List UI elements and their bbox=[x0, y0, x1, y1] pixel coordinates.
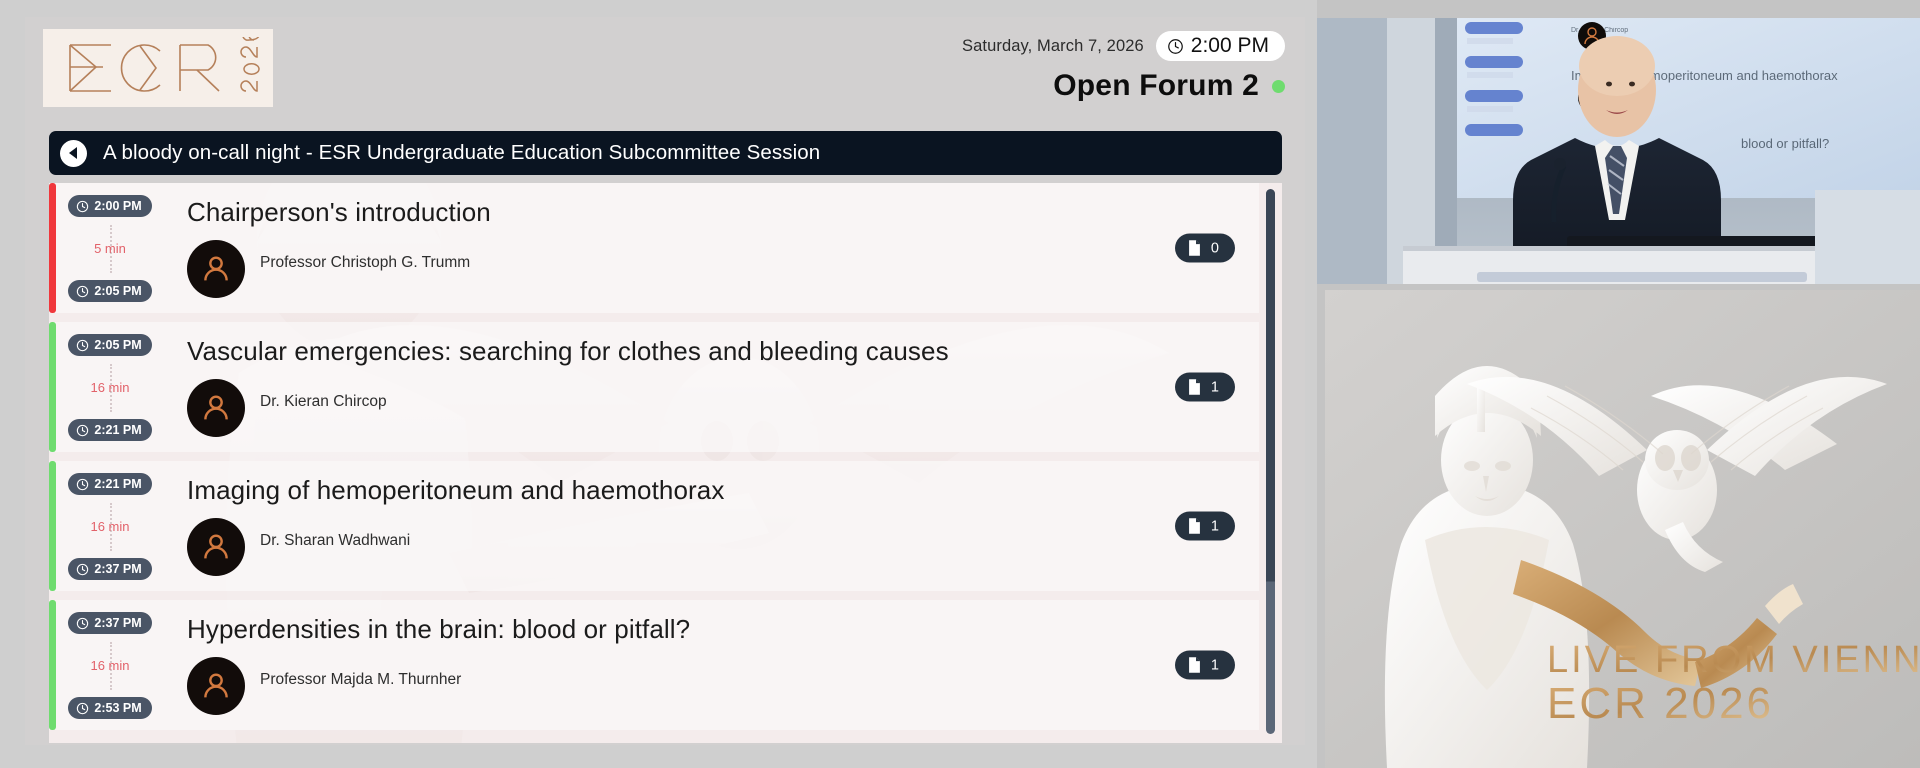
clock-icon bbox=[76, 424, 89, 437]
session-title-bar: A bloody on-call night - ESR Undergradua… bbox=[49, 131, 1282, 175]
talk-row[interactable]: 2:00 PM 5 min 2:05 PM bbox=[49, 183, 1259, 313]
current-time-label: 2:00 PM bbox=[1191, 34, 1269, 58]
talk-body: Hyperdensities in the brain: blood or pi… bbox=[164, 600, 1259, 730]
talk-list: 2:00 PM 5 min 2:05 PM bbox=[49, 183, 1282, 743]
talk-rows: 2:00 PM 5 min 2:05 PM bbox=[49, 183, 1259, 739]
session-title: A bloody on-call night - ESR Undergradua… bbox=[103, 141, 820, 165]
talk-end-time: 2:53 PM bbox=[68, 697, 151, 719]
talk-speaker-row: Dr. Kieran Chircop bbox=[187, 379, 1259, 437]
talk-duration: 16 min bbox=[84, 656, 135, 675]
talk-accent-bar bbox=[49, 183, 56, 313]
svg-text:blood or pitfall?: blood or pitfall? bbox=[1741, 136, 1829, 151]
live-speaker-video[interactable]: Dr. Kieran Chircop Imaging of hemoperito… bbox=[1317, 18, 1920, 284]
documents-count: 0 bbox=[1211, 240, 1219, 256]
talk-title: Imaging of hemoperitoneum and haemothora… bbox=[187, 475, 1259, 506]
talk-time-column: 2:05 PM 16 min 2:21 PM bbox=[56, 322, 164, 452]
talk-body: Chairperson's introduction Professor Chr… bbox=[164, 183, 1259, 313]
talk-speaker-name: Dr. Kieran Chircop bbox=[260, 393, 387, 411]
document-icon bbox=[1187, 518, 1202, 535]
current-time-pill: 2:00 PM bbox=[1156, 31, 1285, 61]
back-button[interactable] bbox=[60, 140, 87, 167]
documents-count: 1 bbox=[1211, 657, 1219, 673]
clock-icon bbox=[76, 702, 89, 715]
talk-speaker-row: Professor Christoph G. Trumm bbox=[187, 240, 1259, 298]
clock-icon bbox=[76, 339, 89, 352]
scrollbar-thumb[interactable] bbox=[1266, 189, 1275, 734]
promo-line-2: ECR 2026 bbox=[1547, 679, 1774, 728]
media-panel: Dr. Kieran Chircop Imaging of hemoperito… bbox=[1317, 0, 1920, 768]
talk-start-time: 2:21 PM bbox=[68, 473, 151, 495]
person-avatar-icon bbox=[199, 252, 233, 286]
talk-row[interactable]: 2:05 PM 16 min 2:21 PM bbox=[49, 322, 1259, 452]
document-icon bbox=[1187, 240, 1202, 257]
documents-badge[interactable]: 0 bbox=[1175, 234, 1235, 263]
talk-start-label: 2:00 PM bbox=[94, 199, 141, 213]
document-icon bbox=[1187, 657, 1202, 674]
talk-start-time: 2:05 PM bbox=[68, 334, 151, 356]
forum-title: Open Forum 2 bbox=[1053, 69, 1259, 103]
talk-body: Vascular emergencies: searching for clot… bbox=[164, 322, 1259, 452]
talk-title: Hyperdensities in the brain: blood or pi… bbox=[187, 614, 1259, 645]
talk-end-label: 2:53 PM bbox=[94, 701, 141, 715]
talk-accent-bar bbox=[49, 600, 56, 730]
avatar bbox=[187, 379, 245, 437]
talk-speaker-name: Professor Majda M. Thurnher bbox=[260, 671, 461, 689]
talk-end-label: 2:37 PM bbox=[94, 562, 141, 576]
talk-speaker-name: Dr. Sharan Wadhwani bbox=[260, 532, 410, 550]
date-time-row: Saturday, March 7, 2026 2:00 PM bbox=[962, 31, 1285, 61]
back-arrow-icon bbox=[69, 147, 77, 159]
schedule-header: Saturday, March 7, 2026 2:00 PM Open For… bbox=[25, 17, 1305, 122]
ecr-logo-icon bbox=[56, 37, 261, 99]
promo-line-1: LIVE FROM VIENNA bbox=[1547, 639, 1920, 681]
talk-duration: 16 min bbox=[84, 378, 135, 397]
talk-start-time: 2:00 PM bbox=[68, 195, 151, 217]
video-frame: Dr. Kieran Chircop Imaging of hemoperito… bbox=[1317, 18, 1920, 284]
person-avatar-icon bbox=[199, 391, 233, 425]
header-info: Saturday, March 7, 2026 2:00 PM Open For… bbox=[962, 31, 1285, 103]
talk-duration: 5 min bbox=[88, 239, 132, 258]
talk-start-time: 2:37 PM bbox=[68, 612, 151, 634]
schedule-card: Saturday, March 7, 2026 2:00 PM Open For… bbox=[25, 17, 1305, 745]
talk-end-time: 2:37 PM bbox=[68, 558, 151, 580]
talk-speaker-name: Professor Christoph G. Trumm bbox=[260, 254, 470, 272]
person-avatar-icon bbox=[199, 530, 233, 564]
forum-row: Open Forum 2 bbox=[962, 69, 1285, 103]
talk-title: Chairperson's introduction bbox=[187, 197, 1259, 228]
documents-count: 1 bbox=[1211, 518, 1219, 534]
clock-icon bbox=[76, 285, 89, 298]
talk-end-label: 2:21 PM bbox=[94, 423, 141, 437]
talk-start-label: 2:37 PM bbox=[94, 616, 141, 630]
clock-icon bbox=[76, 200, 89, 213]
clock-icon bbox=[1167, 38, 1184, 55]
avatar bbox=[187, 240, 245, 298]
talk-title: Vascular emergencies: searching for clot… bbox=[187, 336, 1259, 367]
talk-speaker-row: Dr. Sharan Wadhwani bbox=[187, 518, 1259, 576]
talk-start-label: 2:05 PM bbox=[94, 338, 141, 352]
talk-start-label: 2:21 PM bbox=[94, 477, 141, 491]
ecr-promo-banner: LIVE FROM VIENNA ECR 2026 bbox=[1325, 290, 1920, 768]
vertical-scrollbar[interactable] bbox=[1266, 189, 1275, 734]
talk-accent-bar bbox=[49, 461, 56, 591]
live-status-dot bbox=[1272, 80, 1285, 93]
talk-end-label: 2:05 PM bbox=[94, 284, 141, 298]
documents-count: 1 bbox=[1211, 379, 1219, 395]
app-root: Saturday, March 7, 2026 2:00 PM Open For… bbox=[0, 0, 1920, 768]
talk-end-time: 2:05 PM bbox=[68, 280, 151, 302]
talk-row[interactable]: 2:37 PM 16 min 2:53 PM bbox=[49, 600, 1259, 730]
documents-badge[interactable]: 1 bbox=[1175, 373, 1235, 402]
talk-body: Imaging of hemoperitoneum and haemothora… bbox=[164, 461, 1259, 591]
talk-time-column: 2:00 PM 5 min 2:05 PM bbox=[56, 183, 164, 313]
talk-end-time: 2:21 PM bbox=[68, 419, 151, 441]
documents-badge[interactable]: 1 bbox=[1175, 651, 1235, 680]
documents-badge[interactable]: 1 bbox=[1175, 512, 1235, 541]
talk-speaker-row: Professor Majda M. Thurnher bbox=[187, 657, 1259, 715]
schedule-panel: Saturday, March 7, 2026 2:00 PM Open For… bbox=[0, 0, 1317, 768]
document-icon bbox=[1187, 379, 1202, 396]
date-text: Saturday, March 7, 2026 bbox=[962, 37, 1144, 56]
talk-time-column: 2:37 PM 16 min 2:53 PM bbox=[56, 600, 164, 730]
talk-accent-bar bbox=[49, 322, 56, 452]
avatar bbox=[187, 657, 245, 715]
avatar bbox=[187, 518, 245, 576]
person-avatar-icon bbox=[199, 669, 233, 703]
talk-duration: 16 min bbox=[84, 517, 135, 536]
clock-icon bbox=[76, 563, 89, 576]
promo-artwork: LIVE FROM VIENNA ECR 2026 bbox=[1325, 290, 1920, 768]
talk-row[interactable]: 2:21 PM 16 min 2:37 PM bbox=[49, 461, 1259, 591]
talk-time-column: 2:21 PM 16 min 2:37 PM bbox=[56, 461, 164, 591]
ecr-logo bbox=[43, 29, 273, 107]
clock-icon bbox=[76, 478, 89, 491]
clock-icon bbox=[76, 617, 89, 630]
